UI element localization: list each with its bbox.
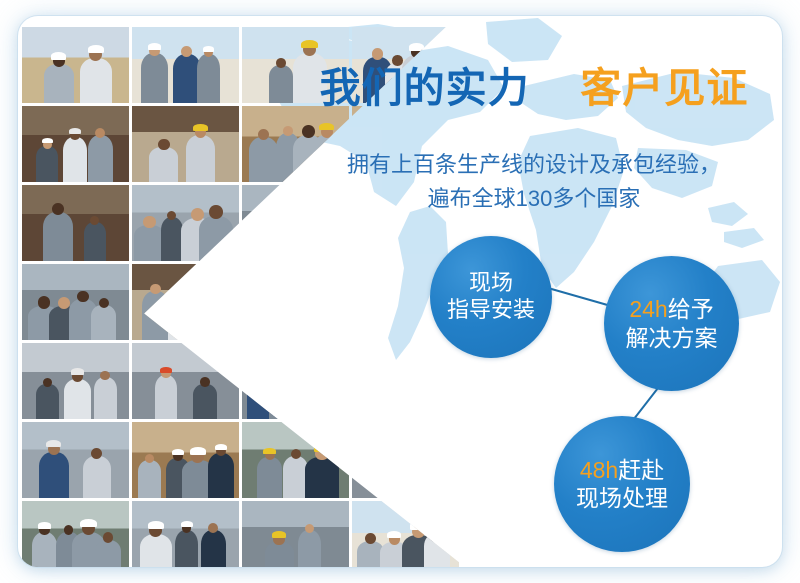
- collage-photo: [22, 106, 129, 182]
- person-head: [291, 449, 301, 459]
- person-silhouette: [201, 530, 226, 567]
- collage-photo: [242, 422, 349, 498]
- hardhat: [416, 441, 432, 449]
- collage-photo: [132, 264, 239, 340]
- person-silhouette: [414, 385, 442, 419]
- person-head: [321, 369, 333, 381]
- photo-surface: [132, 185, 239, 261]
- bubble2-line1: 24h给予: [629, 295, 713, 323]
- bubble3-line1: 48h赶赴: [580, 456, 664, 484]
- collage-photo: [242, 264, 349, 340]
- person-silhouette: [36, 146, 58, 182]
- person-silhouette: [368, 221, 400, 261]
- person-silhouette: [392, 373, 425, 419]
- person-silhouette: [379, 455, 402, 498]
- person-head: [103, 532, 113, 542]
- photo-surface: [22, 106, 129, 182]
- hardhat: [272, 531, 286, 538]
- person-head: [277, 371, 288, 382]
- photo-surface: [132, 501, 239, 567]
- person-silhouette: [142, 291, 169, 340]
- bubble1-line2: 指导安装: [447, 297, 535, 324]
- person-head: [377, 132, 387, 142]
- bubble3-line1-rest: 赶赴: [618, 457, 664, 483]
- person-head: [419, 218, 430, 229]
- person-silhouette: [43, 212, 73, 261]
- person-head: [58, 297, 70, 309]
- hardhat: [215, 444, 228, 450]
- person-head: [435, 50, 446, 61]
- person-silhouette: [39, 452, 69, 498]
- person-head: [370, 363, 379, 372]
- person-silhouette: [363, 369, 386, 419]
- collage-photo: [22, 27, 129, 103]
- hardhat: [38, 522, 51, 528]
- photo-surface: [132, 264, 239, 340]
- person-head: [372, 48, 383, 59]
- hardhat: [314, 444, 331, 452]
- headline-accent: 客户见证: [580, 65, 748, 111]
- person-silhouette: [186, 135, 215, 182]
- person-silhouette: [424, 533, 450, 567]
- person-head: [412, 525, 425, 538]
- person-head: [77, 291, 88, 302]
- hardhat: [190, 447, 206, 455]
- collage-photo: [242, 343, 349, 419]
- person-silhouette: [305, 457, 339, 498]
- person-head: [397, 132, 407, 142]
- person-silhouette: [197, 54, 219, 103]
- hardhat: [69, 128, 81, 134]
- person-head: [392, 292, 404, 304]
- person-head: [257, 372, 270, 385]
- person-head: [304, 281, 317, 294]
- person-head: [365, 295, 376, 306]
- banner-card: 我们的实力 客户见证 拥有上百条生产线的设计及承包经验， 遍布全球130多个国家…: [18, 16, 782, 567]
- person-silhouette: [265, 542, 294, 567]
- photo-surface: [352, 501, 459, 567]
- person-silhouette: [408, 454, 439, 498]
- person-silhouette: [140, 534, 173, 567]
- person-silhouette: [298, 530, 321, 567]
- photo-surface: [22, 422, 129, 498]
- person-silhouette: [138, 460, 162, 498]
- person-silhouette: [88, 135, 113, 182]
- photo-surface: [242, 422, 349, 498]
- person-silhouette: [91, 305, 116, 340]
- hardhat: [400, 359, 417, 367]
- hardhat: [148, 521, 164, 529]
- collage-photo: [22, 501, 129, 567]
- person-head: [264, 207, 273, 216]
- photo-surface: [22, 185, 129, 261]
- person-head: [432, 526, 442, 536]
- person-head: [99, 298, 109, 308]
- page-title: 我们的实力 客户见证: [286, 68, 782, 109]
- banner-stage: 我们的实力 客户见证 拥有上百条生产线的设计及承包经验， 遍布全球130多个国家…: [0, 0, 800, 583]
- hardhat: [276, 369, 290, 376]
- photo-surface: [22, 27, 129, 103]
- hardhat: [320, 366, 335, 373]
- person-silhouette: [269, 379, 296, 419]
- person-silhouette: [257, 457, 282, 498]
- bubble2-line2: 解决方案: [626, 324, 718, 352]
- person-head: [38, 296, 51, 309]
- person-head: [209, 205, 223, 219]
- collage-photo: [22, 264, 129, 340]
- person-silhouette: [83, 456, 110, 498]
- hardhat: [46, 440, 61, 447]
- hardhat: [176, 284, 193, 292]
- photo-surface: [132, 27, 239, 103]
- person-silhouette: [383, 300, 412, 340]
- person-silhouette: [257, 213, 279, 261]
- collage-photo: [352, 422, 459, 498]
- photo-surface: [22, 343, 129, 419]
- person-silhouette: [161, 217, 184, 261]
- person-head: [423, 377, 434, 388]
- photo-surface: [242, 343, 349, 419]
- person-head: [302, 125, 315, 138]
- hardhat: [203, 46, 214, 52]
- collage-photo: [352, 343, 459, 419]
- collage-photo: [132, 106, 239, 182]
- collage-photo: [22, 185, 129, 261]
- person-silhouette: [313, 377, 342, 419]
- photo-surface: [22, 501, 129, 567]
- person-head: [95, 128, 105, 138]
- person-silhouette: [247, 382, 279, 419]
- photo-surface: [242, 501, 349, 567]
- person-silhouette: [64, 379, 92, 419]
- person-silhouette: [84, 222, 106, 261]
- bubble1-line1: 现场: [469, 270, 513, 297]
- person-silhouette: [193, 384, 217, 419]
- collage-photo: [242, 501, 349, 567]
- person-head: [386, 449, 395, 458]
- hardhat: [263, 448, 276, 454]
- collage-photo: [22, 422, 129, 498]
- person-head: [100, 371, 109, 380]
- hardhat: [51, 52, 66, 59]
- photo-surface: [242, 264, 349, 340]
- collage-photo: [132, 501, 239, 567]
- hardhat: [193, 124, 208, 131]
- person-silhouette: [295, 291, 327, 340]
- person-head: [276, 58, 286, 68]
- photo-surface: [352, 343, 459, 419]
- hardhat: [181, 521, 193, 527]
- person-head: [293, 220, 303, 230]
- bubble3-highlight: 48h: [580, 457, 618, 483]
- collage-photo: [132, 27, 239, 103]
- person-silhouette: [95, 540, 121, 567]
- hardhat: [390, 289, 404, 296]
- person-silhouette: [286, 227, 311, 261]
- hardhat: [88, 45, 104, 53]
- person-silhouette: [261, 293, 295, 340]
- service-bubble-onsite-guidance[interactable]: 现场 指导安装: [430, 236, 552, 358]
- collage-photo: [132, 185, 239, 261]
- hardhat: [160, 367, 171, 373]
- hardhat: [395, 130, 408, 136]
- collage-photo: [22, 343, 129, 419]
- hardhat: [148, 43, 161, 50]
- hardhat: [409, 43, 424, 50]
- person-silhouette: [249, 137, 278, 182]
- hardhat: [42, 138, 53, 143]
- hardhat: [410, 521, 426, 529]
- bubble2-highlight: 24h: [629, 296, 667, 322]
- photo-surface: [22, 264, 129, 340]
- service-bubble-24h-solution[interactable]: 24h给予 解决方案: [604, 256, 739, 391]
- person-silhouette: [168, 297, 201, 340]
- person-silhouette: [155, 375, 178, 419]
- person-head: [150, 284, 161, 295]
- person-head: [412, 288, 425, 301]
- subtitle-block: 拥有上百条生产线的设计及承包经验， 遍布全球130多个国家: [286, 148, 782, 216]
- hardhat: [319, 123, 334, 130]
- person-head: [158, 139, 170, 151]
- service-bubble-48h-onsite[interactable]: 48h赶赴 现场处理: [554, 416, 690, 552]
- person-head: [43, 378, 52, 387]
- person-silhouette: [293, 384, 321, 419]
- person-silhouette: [80, 58, 113, 103]
- person-head: [271, 282, 285, 296]
- person-head: [143, 216, 155, 228]
- subtitle-line-1: 拥有上百条生产线的设计及承包经验，: [286, 148, 782, 182]
- person-silhouette: [310, 221, 334, 261]
- person-head: [283, 126, 293, 136]
- person-silhouette: [208, 453, 234, 498]
- hardhat: [376, 130, 388, 136]
- person-silhouette: [149, 147, 178, 182]
- collage-photo: [352, 501, 459, 567]
- hardhat: [71, 368, 85, 375]
- hardhat: [387, 531, 401, 538]
- hardhat: [80, 519, 97, 527]
- collage-photo: [132, 343, 239, 419]
- person-silhouette: [175, 530, 198, 567]
- person-head: [302, 376, 313, 387]
- person-silhouette: [63, 137, 87, 182]
- person-silhouette: [141, 53, 168, 103]
- person-head: [392, 55, 403, 66]
- photo-surface: [132, 343, 239, 419]
- photo-surface: [352, 422, 459, 498]
- person-head: [418, 444, 431, 457]
- photo-surface: [132, 106, 239, 182]
- person-silhouette: [94, 377, 117, 419]
- person-head: [401, 362, 414, 375]
- headline-primary: 我们的实力: [320, 65, 530, 111]
- bubble3-line2: 现场处理: [576, 484, 668, 512]
- person-head: [210, 298, 221, 309]
- person-head: [178, 287, 191, 300]
- person-silhouette: [44, 64, 74, 103]
- person-silhouette: [356, 303, 383, 340]
- hardhat: [270, 279, 287, 287]
- person-silhouette: [36, 384, 58, 419]
- collage-photo: [132, 422, 239, 498]
- person-silhouette: [411, 226, 439, 261]
- bubble2-line1-rest: 给予: [668, 296, 714, 322]
- person-silhouette: [199, 216, 233, 261]
- subtitle-line-2: 遍布全球130多个国家: [286, 182, 782, 216]
- photo-surface: [132, 422, 239, 498]
- hardhat: [172, 449, 184, 455]
- person-head: [52, 203, 64, 215]
- hardhat: [301, 40, 318, 48]
- person-silhouette: [202, 305, 228, 340]
- person-silhouette: [32, 532, 58, 567]
- person-head: [200, 377, 210, 387]
